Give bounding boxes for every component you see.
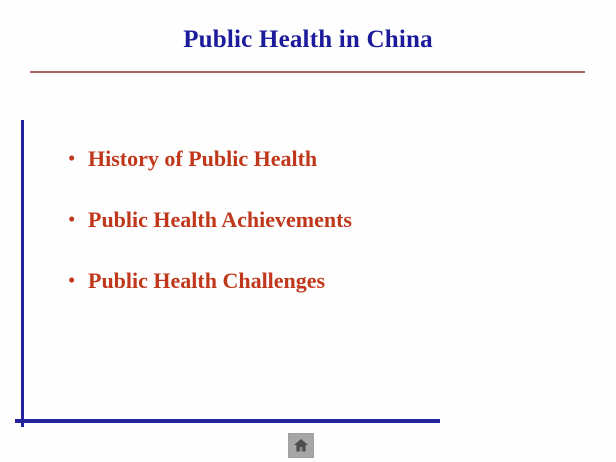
list-item-label: Public Health Achievements <box>88 207 352 233</box>
presentation-slide: Public Health in China • History of Publ… <box>0 0 616 462</box>
home-icon <box>293 438 309 453</box>
page-title: Public Health in China <box>0 26 616 54</box>
list-item[interactable]: • Public Health Achievements <box>66 207 526 268</box>
bullet-dot-icon: • <box>66 268 88 293</box>
list-item-label: Public Health Challenges <box>88 268 325 294</box>
bullet-dot-icon: • <box>66 207 88 232</box>
list-item[interactable]: • Public Health Challenges <box>66 268 526 329</box>
decorative-vertical-axis-line <box>21 120 24 427</box>
list-item-label: History of Public Health <box>88 146 317 172</box>
title-divider <box>30 71 585 73</box>
decorative-horizontal-axis-line <box>15 419 440 423</box>
home-button[interactable] <box>288 433 314 458</box>
bullet-dot-icon: • <box>66 146 88 171</box>
bullet-list: • History of Public Health • Public Heal… <box>66 146 526 329</box>
list-item[interactable]: • History of Public Health <box>66 146 526 207</box>
